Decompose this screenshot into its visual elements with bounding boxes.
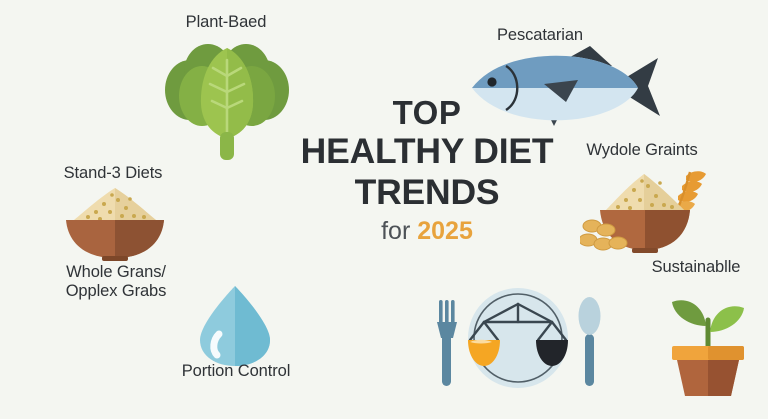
- headline-line-trends: TRENDS: [296, 173, 558, 213]
- potted-seedling-icon: [660, 288, 756, 398]
- label-portion-control: Portion Control: [150, 362, 322, 381]
- infographic-poster: TOP HEALTHY DIET TRENDS for 2025 Plant-B…: [0, 0, 768, 419]
- grain-bowl-wheat-icon: [580, 164, 710, 272]
- leafy-greens-icon: [164, 38, 290, 160]
- headline-year: 2025: [417, 217, 473, 245]
- headline-line-main: HEALTHY DIET: [296, 132, 558, 172]
- water-drop-icon: [186, 284, 284, 368]
- grain-bowl-icon: [62, 186, 168, 262]
- label-stand-3-diets: Stand-3 Diets: [28, 164, 198, 183]
- balance-scale-plate-icon: [426, 286, 610, 396]
- label-sustainable: Sustainablle: [628, 258, 764, 277]
- label-wydole-graints: Wydole Graints: [552, 141, 732, 160]
- label-plant-based: Plant-Baed: [146, 13, 306, 32]
- fish-icon: [462, 44, 674, 132]
- label-whole-grains: Whole Grans/ Opplex Grabs: [33, 263, 199, 302]
- headline-for-text: for: [381, 217, 410, 245]
- label-pescatarian: Pescatarian: [455, 26, 625, 45]
- headline-subline: for 2025: [296, 219, 558, 244]
